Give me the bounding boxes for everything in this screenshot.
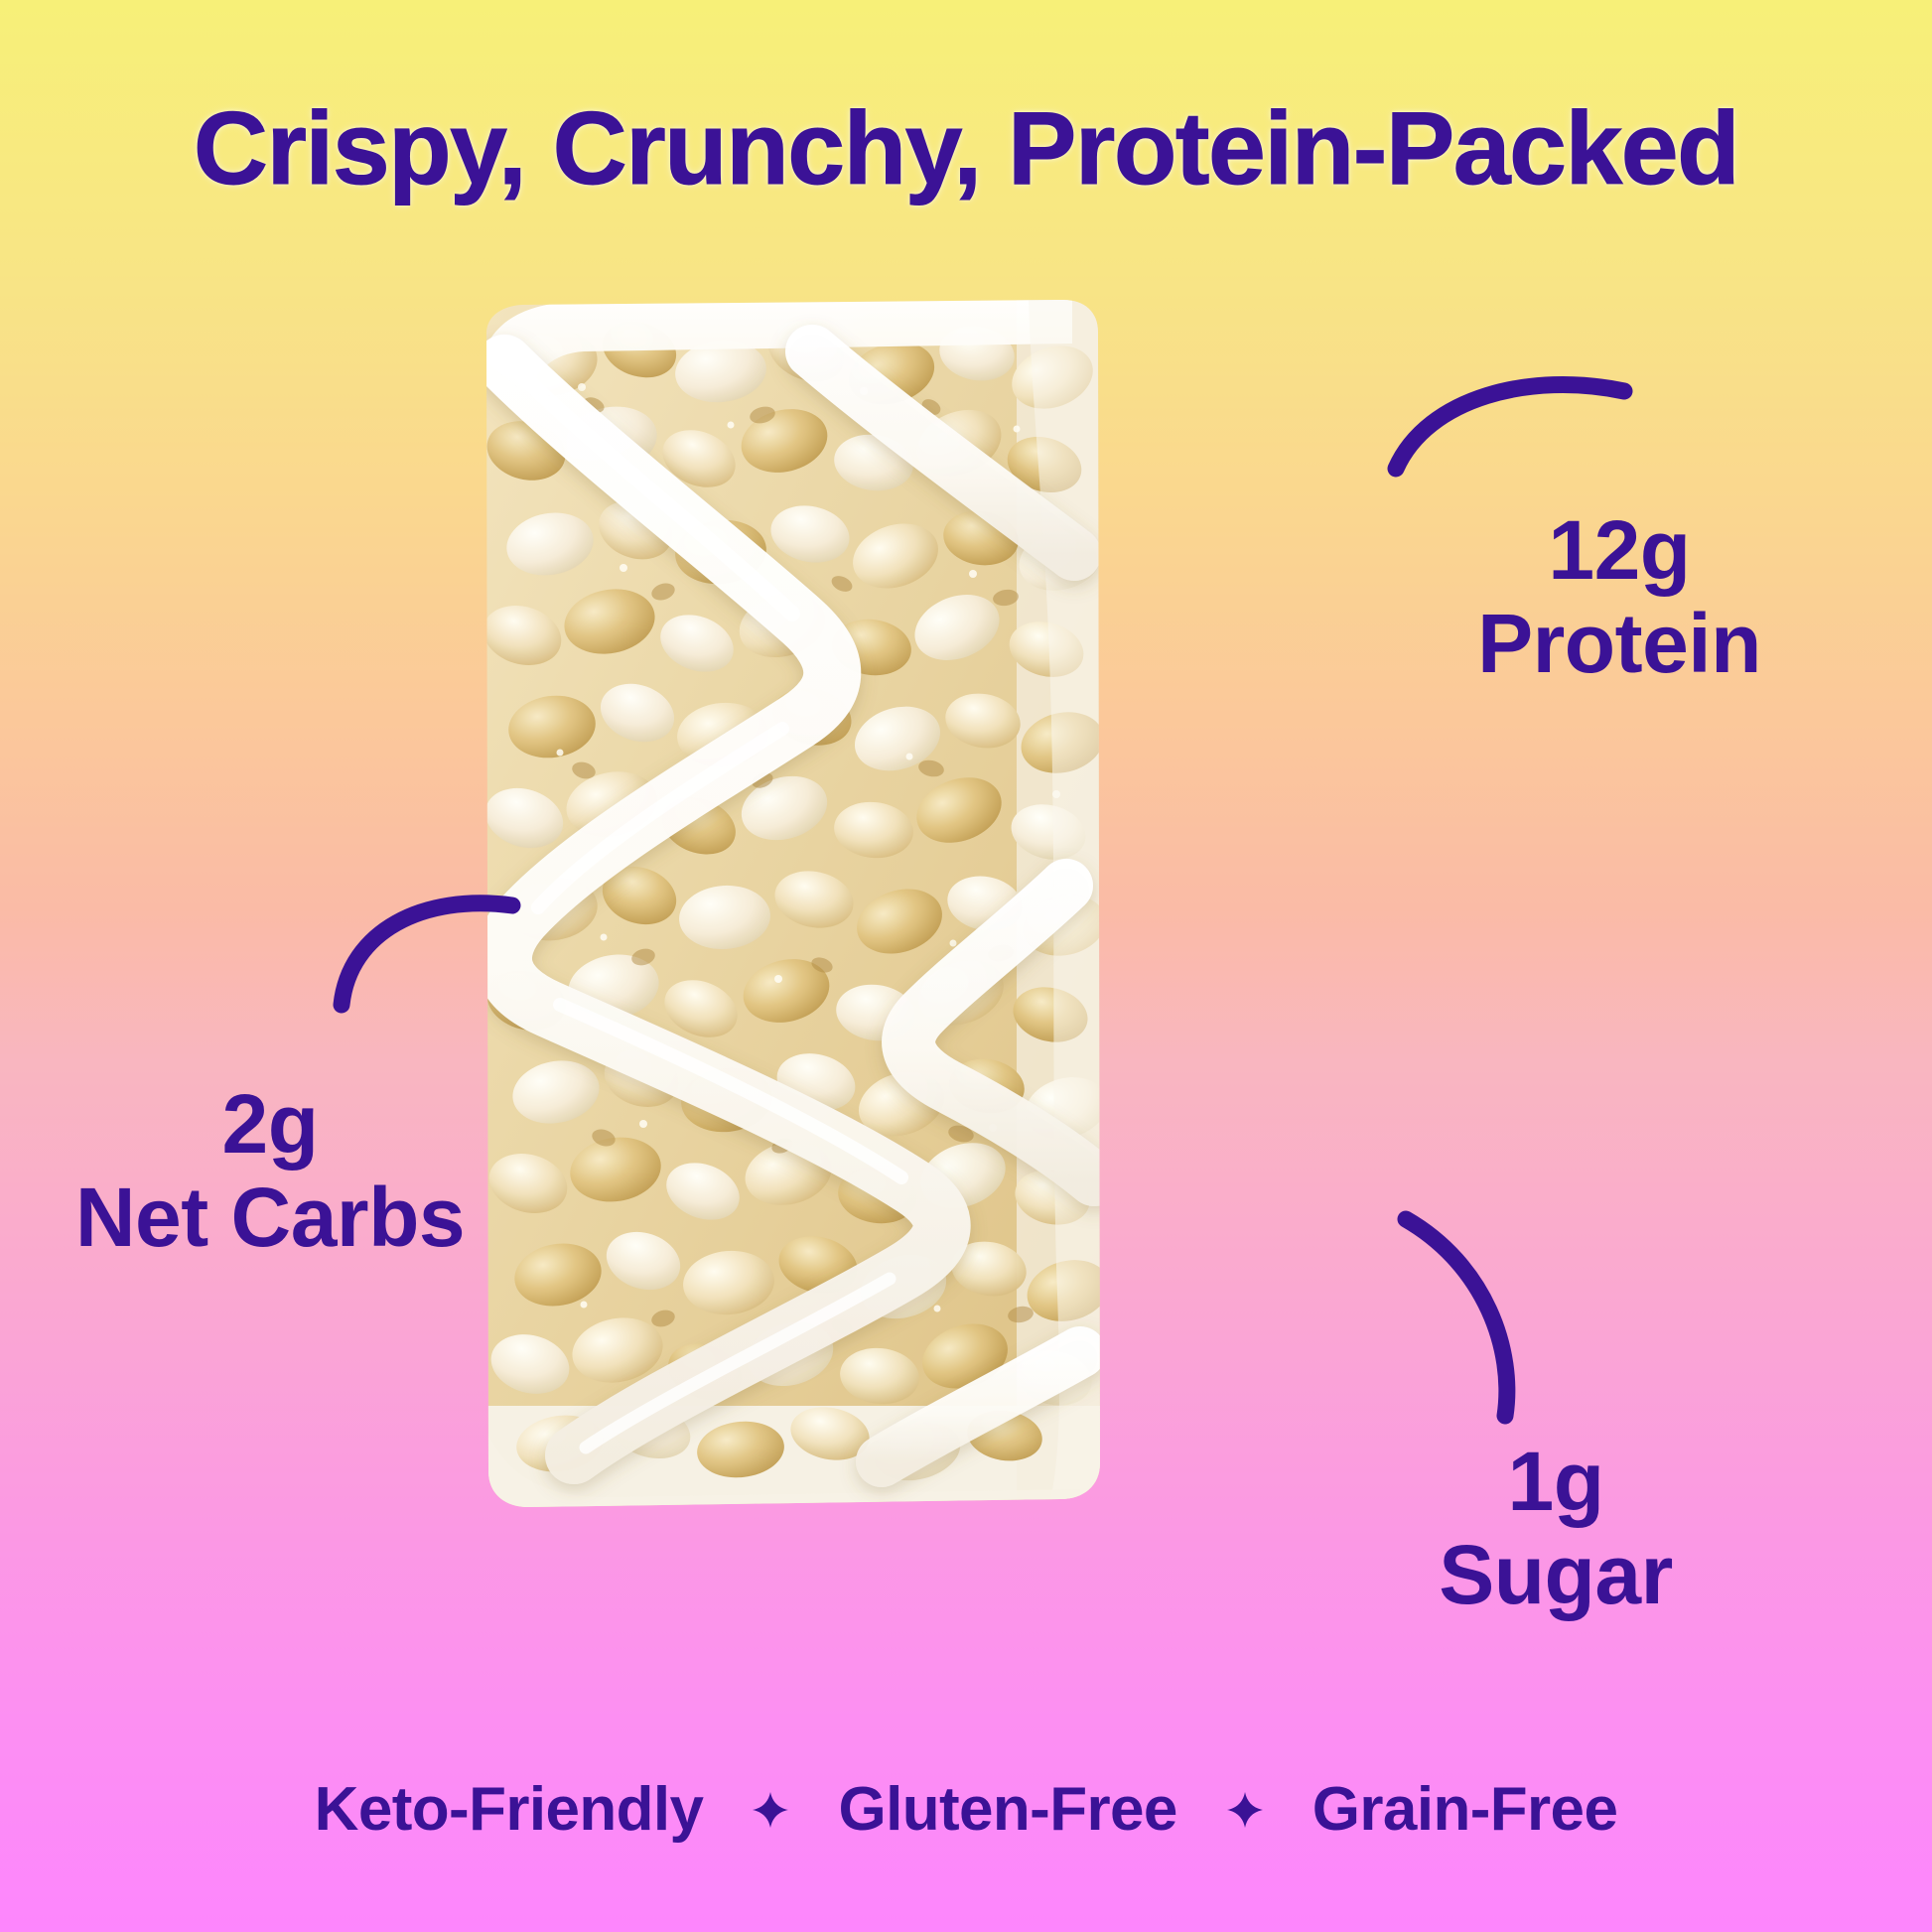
callout-protein: 12g Protein (1386, 508, 1853, 685)
claim-grain-free: Grain-Free (1312, 1774, 1618, 1845)
claim-keto-friendly: Keto-Friendly (315, 1774, 704, 1845)
callout-sugar-value: 1g (1342, 1440, 1769, 1523)
callout-arc-sugar (1390, 1203, 1569, 1432)
bar-body (465, 294, 1120, 1535)
callout-arc-net-carbs (328, 884, 526, 1023)
callout-protein-label: Protein (1386, 602, 1853, 685)
product-marketing-card: Crispy, Crunchy, Protein-Packed (0, 0, 1932, 1932)
page-title: Crispy, Crunchy, Protein-Packed (0, 95, 1932, 204)
callout-sugar-label: Sugar (1342, 1533, 1769, 1616)
callout-net-carbs-value: 2g (22, 1082, 518, 1166)
claim-gluten-free: Gluten-Free (838, 1774, 1176, 1845)
callout-arc-protein (1382, 357, 1640, 506)
callout-protein-value: 12g (1386, 508, 1853, 592)
callout-sugar: 1g Sugar (1342, 1440, 1769, 1616)
sparkle-icon (1225, 1790, 1265, 1830)
claims-row: Keto-Friendly Gluten-Free Grain-Free (0, 1774, 1932, 1845)
callout-net-carbs: 2g Net Carbs (22, 1082, 518, 1259)
callout-net-carbs-label: Net Carbs (22, 1175, 518, 1259)
product-image (465, 294, 1120, 1535)
sparkle-icon (751, 1790, 790, 1830)
